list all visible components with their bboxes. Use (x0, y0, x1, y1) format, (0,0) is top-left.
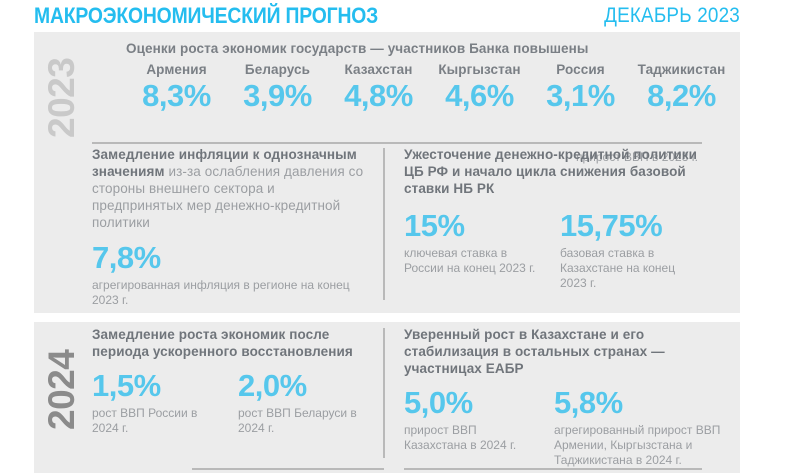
divider-horizontal-2023 (92, 142, 702, 144)
section-2023-intro: Оценки роста экономик государств — участ… (126, 41, 589, 56)
country-item: Армения 8,3% (126, 62, 227, 114)
gdp-caption: рост ВВП России в 2024 г. (92, 406, 214, 436)
monetary-lead-bold: Ужесточение денежно-кредитной политики Ц… (404, 147, 697, 196)
year-label-2023: 2023 (34, 42, 90, 154)
kazakhstan-lead: Уверенный рост в Казахстане и его стабил… (404, 326, 714, 377)
country-item: Казахстан 4,8% (328, 62, 429, 114)
inflation-value: 7,8% (92, 241, 364, 275)
divider-bottom-right (404, 468, 702, 470)
kazakhstan-growth-block: Уверенный рост в Казахстане и его стабил… (404, 326, 714, 468)
gdp-stat: 1,5% рост ВВП России в 2024 г. (92, 369, 214, 436)
gdp-caption: прирост ВВП Казахстана в 2024 г. (404, 423, 530, 453)
country-name: Кыргызстан (429, 62, 530, 77)
rate-value: 15,75% (560, 209, 692, 243)
inflation-stat: 7,8% агрегированная инфляция в регионе н… (92, 241, 364, 308)
gdp-value: 5,8% (554, 386, 729, 420)
rate-caption: ключевая ставка в России на конец 2023 г… (404, 246, 536, 276)
country-name: Армения (126, 62, 227, 77)
slowdown-lead-bold: Замедление роста экономик после периода … (92, 327, 353, 359)
report-date: ДЕКАБРЬ 2023 (604, 4, 740, 28)
country-value: 3,1% (530, 78, 631, 114)
country-name: Россия (530, 62, 631, 77)
country-growth-row: Армения 8,3% Беларусь 3,9% Казахстан 4,8… (126, 62, 732, 114)
gdp-caption: агрегированный прирост ВВП Армении, Кырг… (554, 423, 729, 468)
rate-caption: базовая ставка в Казахстане на конец 202… (560, 246, 692, 291)
country-name: Таджикистан (631, 62, 732, 77)
gdp-value: 1,5% (92, 369, 214, 403)
country-value: 8,3% (126, 78, 227, 114)
kazakhstan-stats-row: 5,0% прирост ВВП Казахстана в 2024 г. 5,… (404, 386, 714, 468)
gdp-value: 2,0% (238, 369, 360, 403)
country-value: 4,6% (429, 78, 530, 114)
slowdown-stats-row: 1,5% рост ВВП России в 2024 г. 2,0% рост… (92, 369, 364, 436)
divider-bottom-left (192, 468, 384, 470)
gdp-stat: 5,0% прирост ВВП Казахстана в 2024 г. (404, 386, 530, 468)
page-header: МАКРОЭКОНОМИЧЕСКИЙ ПРОГНОЗ ДЕКАБРЬ 2023 (34, 2, 740, 30)
gdp-stat: 5,8% агрегированный прирост ВВП Армении,… (554, 386, 729, 468)
country-item: Таджикистан 8,2% (631, 62, 732, 114)
inflation-caption: агрегированная инфляция в регионе на кон… (92, 278, 364, 308)
country-item: Кыргызстан 4,6% (429, 62, 530, 114)
rate-stat: 15% ключевая ставка в России на конец 20… (404, 209, 536, 291)
inflation-lead: Замедление инфляции к однозначным значен… (92, 146, 364, 231)
monetary-stats-row: 15% ключевая ставка в России на конец 20… (404, 209, 704, 291)
rate-stat: 15,75% базовая ставка в Казахстане на ко… (560, 209, 692, 291)
page-title: МАКРОЭКОНОМИЧЕСКИЙ ПРОГНОЗ (34, 3, 378, 29)
infographic-page: МАКРОЭКОНОМИЧЕСКИЙ ПРОГНОЗ ДЕКАБРЬ 2023 … (0, 0, 791, 473)
country-item: Беларусь 3,9% (227, 62, 328, 114)
country-value: 8,2% (631, 78, 732, 114)
gdp-value: 5,0% (404, 386, 530, 420)
kazakhstan-lead-bold: Уверенный рост в Казахстане и его стабил… (404, 327, 665, 376)
country-value: 3,9% (227, 78, 328, 114)
country-name: Беларусь (227, 62, 328, 77)
country-name: Казахстан (328, 62, 429, 77)
year-label-2024: 2024 (34, 334, 90, 446)
rate-value: 15% (404, 209, 536, 243)
monetary-policy-block: Ужесточение денежно-кредитной политики Ц… (404, 146, 704, 291)
gdp-stat: 2,0% рост ВВП Беларуси в 2024 г. (238, 369, 360, 436)
gdp-caption: рост ВВП Беларуси в 2024 г. (238, 406, 360, 436)
monetary-lead: Ужесточение денежно-кредитной политики Ц… (404, 146, 704, 197)
divider-vertical-2023 (383, 148, 385, 300)
country-value: 4,8% (328, 78, 429, 114)
slowdown-lead: Замедление роста экономик после периода … (92, 326, 364, 360)
country-item: Россия 3,1% (530, 62, 631, 114)
divider-vertical-2024 (383, 328, 385, 458)
inflation-block: Замедление инфляции к однозначным значен… (92, 146, 364, 308)
growth-slowdown-block: Замедление роста экономик после периода … (92, 326, 364, 436)
